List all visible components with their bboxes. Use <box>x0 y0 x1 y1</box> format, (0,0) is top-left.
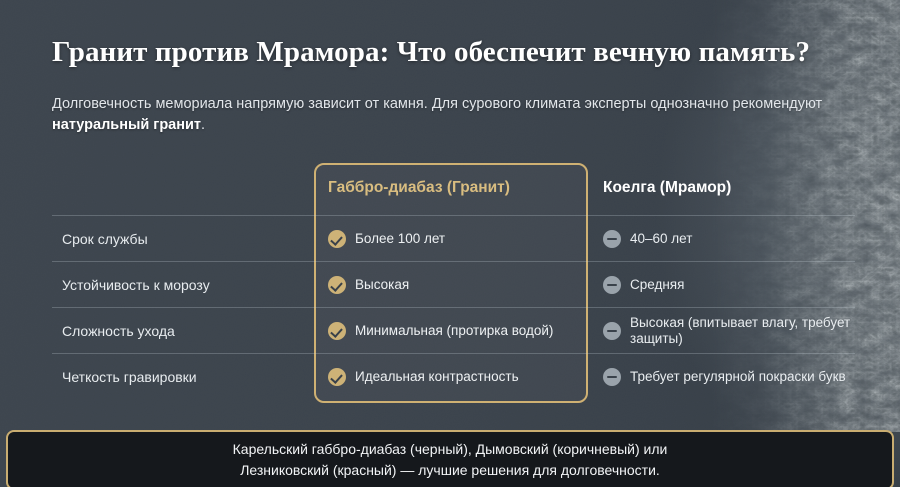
minus-circle-icon <box>603 230 621 248</box>
comparison-table: Габбро-диабаз (Гранит) Коелга (Мрамор) С… <box>52 163 855 405</box>
check-circle-icon <box>328 322 346 340</box>
cell-marble: 40–60 лет <box>603 216 853 261</box>
slide-content: Гранит против Мрамора: Что обеспечит веч… <box>0 0 900 487</box>
table-row: Устойчивость к морозу Высокая Средняя <box>52 261 855 307</box>
cell-text: Средняя <box>630 277 684 293</box>
cell-text: Минимальная (протирка водой) <box>355 323 553 339</box>
check-circle-icon <box>328 230 346 248</box>
table-body: Срок службы Более 100 лет 40–60 лет Усто… <box>52 215 855 399</box>
cell-granite: Более 100 лет <box>328 216 576 261</box>
subtitle-lead-text: Долговечность мемориала напрямую зависит… <box>52 96 822 112</box>
row-label: Устойчивость к морозу <box>62 262 302 307</box>
subtitle-emphasis-text: натуральный гранит <box>52 117 201 133</box>
column-header-granite: Габбро-диабаз (Гранит) <box>328 179 510 197</box>
table-row: Четкость гравировки Идеальная контрастно… <box>52 353 855 399</box>
cell-text: Высокая (впитывает влагу, требует защиты… <box>630 315 853 347</box>
subtitle-tail-text: . <box>201 117 205 133</box>
row-label: Сложность ухода <box>62 308 302 353</box>
bottom-recommendation-banner: Карельский габбро-диабаз (черный), Дымов… <box>6 430 894 487</box>
cell-marble: Требует регулярной покраски букв <box>603 354 853 399</box>
check-circle-icon <box>328 368 346 386</box>
subtitle-paragraph: Долговечность мемориала напрямую зависит… <box>52 94 842 136</box>
table-row: Сложность ухода Минимальная (протирка во… <box>52 307 855 353</box>
cell-text: Высокая <box>355 277 409 293</box>
cell-text: Идеальная контрастность <box>355 369 519 385</box>
banner-line-2: Лезниковский (красный) — лучшие решения … <box>240 462 660 478</box>
cell-text: Более 100 лет <box>355 231 445 247</box>
row-label: Срок службы <box>62 216 302 261</box>
slide-root: Гранит против Мрамора: Что обеспечит веч… <box>0 0 900 487</box>
minus-circle-icon <box>603 368 621 386</box>
cell-text: Требует регулярной покраски букв <box>630 369 846 385</box>
row-label: Четкость гравировки <box>62 354 302 399</box>
banner-text: Карельский габбро-диабаз (черный), Дымов… <box>213 439 688 481</box>
cell-marble: Высокая (впитывает влагу, требует защиты… <box>603 308 853 353</box>
cell-granite: Высокая <box>328 262 576 307</box>
minus-circle-icon <box>603 322 621 340</box>
column-header-marble: Коелга (Мрамор) <box>603 179 731 197</box>
cell-text: 40–60 лет <box>630 231 692 247</box>
page-title: Гранит против Мрамора: Что обеспечит веч… <box>52 36 810 69</box>
minus-circle-icon <box>603 276 621 294</box>
table-header-row: Габбро-диабаз (Гранит) Коелга (Мрамор) <box>52 163 855 215</box>
cell-granite: Минимальная (протирка водой) <box>328 308 576 353</box>
cell-marble: Средняя <box>603 262 853 307</box>
cell-granite: Идеальная контрастность <box>328 354 576 399</box>
table-row: Срок службы Более 100 лет 40–60 лет <box>52 215 855 261</box>
check-circle-icon <box>328 276 346 294</box>
banner-line-1: Карельский габбро-диабаз (черный), Дымов… <box>233 441 668 457</box>
